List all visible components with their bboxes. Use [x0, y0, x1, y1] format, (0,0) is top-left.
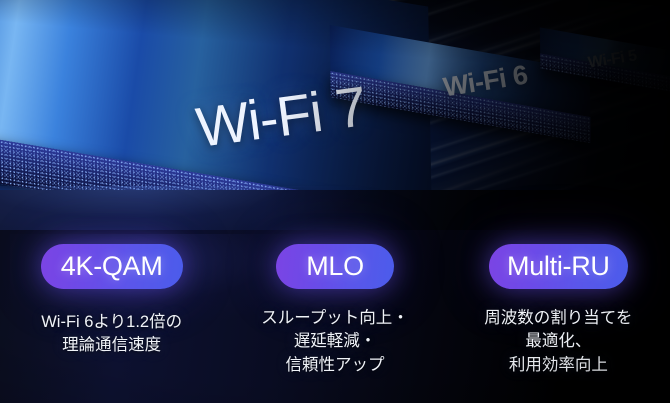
feature-description-multi-ru: 周波数の割り当てを 最適化、 利用効率向上: [484, 307, 632, 377]
feature-description-mlo: スループット向上・ 遅延軽減・ 信頼性アップ: [261, 307, 409, 377]
feature-column-mlo: MLO スループット向上・ 遅延軽減・ 信頼性アップ: [223, 230, 446, 403]
wifi7-feature-graphic: Wi-Fi 5 Wi-Fi 6 Wi-Fi 7 4K-QAM Wi-Fi 6より…: [0, 0, 670, 403]
feature-description-4k-qam: Wi-Fi 6より1.2倍の 理論通信速度: [41, 311, 182, 358]
feature-badge-4k-qam[interactable]: 4K-QAM: [41, 244, 183, 289]
feature-column-multi-ru: Multi-RU 周波数の割り当てを 最適化、 利用効率向上: [447, 230, 670, 403]
feature-columns: 4K-QAM Wi-Fi 6より1.2倍の 理論通信速度 MLO スループット向…: [0, 230, 670, 403]
hero-top-shade: [0, 0, 670, 250]
feature-badge-mlo[interactable]: MLO: [276, 244, 394, 289]
feature-badge-multi-ru[interactable]: Multi-RU: [489, 244, 628, 289]
feature-column-4k-qam: 4K-QAM Wi-Fi 6より1.2倍の 理論通信速度: [0, 230, 223, 403]
hero-visual: Wi-Fi 5 Wi-Fi 6 Wi-Fi 7: [0, 0, 670, 250]
